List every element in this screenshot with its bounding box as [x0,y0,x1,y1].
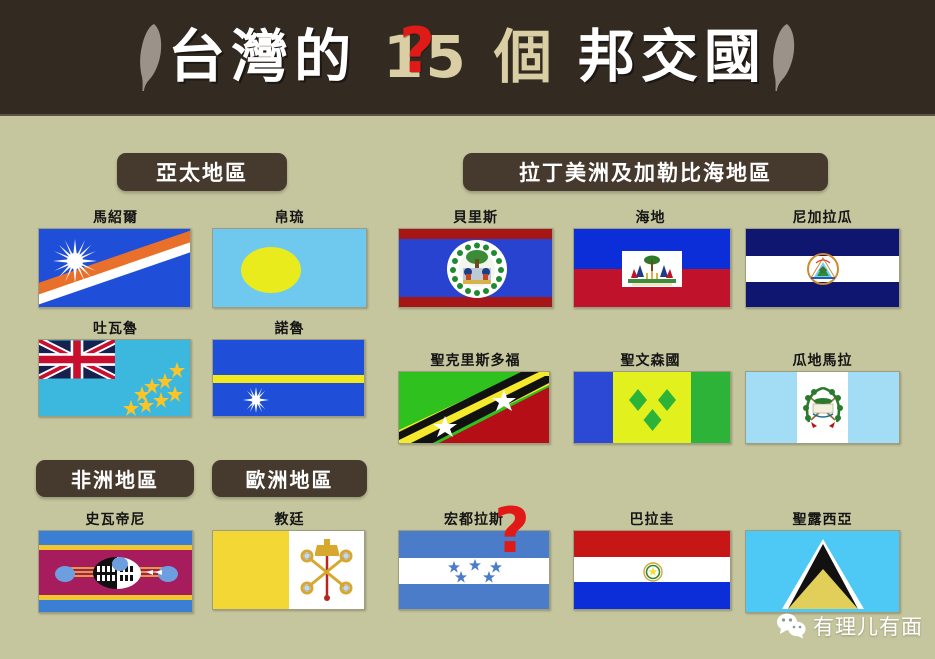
country-cell-belize: 貝里斯 [398,210,553,308]
country-label: 帛琉 [212,210,367,228]
paraguay-coat-of-arms [640,562,666,582]
country-label: 尼加拉瓜 [745,210,900,228]
country-cell-stvincent: 聖文森國 [573,353,728,444]
country-label: 貝里斯 [398,210,553,228]
title-count-wrap: 15 ? [383,28,468,86]
eswatini-shield-icon [51,555,182,591]
region-label: 歐洲地區 [246,464,334,493]
marshall-islands-flag [38,228,191,308]
watermark: 有理儿有面 [776,611,923,641]
page-header: 台灣的 15 ? 個 邦交國 [0,0,935,116]
taiwan-island-silhouette-left [138,22,164,92]
country-cell-marshall: 馬紹爾 [38,210,193,308]
guatemala-flag [745,371,900,444]
honduras-question-mark: ? [494,500,530,562]
country-cell-stkitts: 聖克里斯多福 [398,353,553,444]
nicaragua-flag [745,228,900,308]
country-label: 聖克里斯多福 [398,353,553,371]
country-cell-nauru: 諾魯 [212,321,367,417]
palau-flag [212,228,367,308]
region-header-asia-pacific: 亞太地區 [117,153,287,191]
saint-kitts-and-nevis-flag [398,371,550,444]
saint-vincent-flag [573,371,731,444]
country-label: 海地 [573,210,728,228]
country-label: 聖露西亞 [745,512,900,530]
belize-flag [398,228,553,308]
eswatini-flag [38,530,193,613]
tuvalu-flag [38,339,191,417]
region-header-europe: 歐洲地區 [212,460,367,497]
region-header-latin-america: 拉丁美洲及加勒比海地區 [463,153,828,191]
star-burst-icon [53,239,97,283]
tuvalu-stars-icon [39,340,191,417]
country-label: 教廷 [212,512,367,530]
country-label: 馬紹爾 [38,210,193,228]
papal-keys-icon [299,537,355,603]
country-label: 吐瓦魯 [38,321,193,339]
header-title-row: 台灣的 15 ? 個 邦交國 [138,22,797,92]
country-cell-guatemala: 瓜地馬拉 [745,353,900,444]
wechat-icon [776,613,806,639]
nicaragua-coat-of-arms [804,253,842,285]
country-label: 瓜地馬拉 [745,353,900,371]
palau-moon-disc [241,247,301,293]
country-label: 諾魯 [212,321,367,339]
country-cell-palau: 帛琉 [212,210,367,308]
country-cell-holysee: 教廷 [212,512,367,610]
nauru-star-icon [243,387,269,413]
paraguay-flag [573,530,731,610]
country-cell-haiti: 海地 [573,210,728,308]
haiti-coat-of-arms [622,251,682,287]
haiti-flag [573,228,731,308]
country-cell-paraguay: 巴拉圭 [573,512,731,610]
belize-coat-of-arms [447,240,507,298]
saint-lucia-flag [745,530,900,613]
country-label: 聖文森國 [573,353,728,371]
country-cell-stlucia: 聖露西亞 [745,512,900,613]
country-cell-tuvalu: 吐瓦魯 [38,321,193,417]
region-label: 亞太地區 [156,157,248,187]
title-question-mark: ? [399,20,435,82]
holy-see-flag [212,530,365,610]
country-cell-eswatini: 史瓦帝尼 [38,512,193,613]
country-cell-nicaragua: 尼加拉瓜 [745,210,900,308]
stvincent-diamonds-icon [613,372,692,444]
title-suffix: 邦交國 [578,29,767,86]
country-label: 巴拉圭 [573,512,731,530]
taiwan-island-silhouette-right [771,22,797,92]
country-label: 史瓦帝尼 [38,512,193,530]
title-count-unit: 個 [494,28,552,86]
stlucia-triangles-icon [746,531,900,613]
country-cell-honduras: 宏都拉斯 ? [398,512,558,610]
region-label: 拉丁美洲及加勒比海地區 [519,157,772,187]
guatemala-coat-of-arms [801,384,845,432]
title-prefix: 台灣的 [168,29,357,86]
region-label: 非洲地區 [71,464,159,493]
region-header-africa: 非洲地區 [36,460,194,497]
watermark-text: 有理儿有面 [813,611,923,641]
nauru-flag [212,339,365,417]
